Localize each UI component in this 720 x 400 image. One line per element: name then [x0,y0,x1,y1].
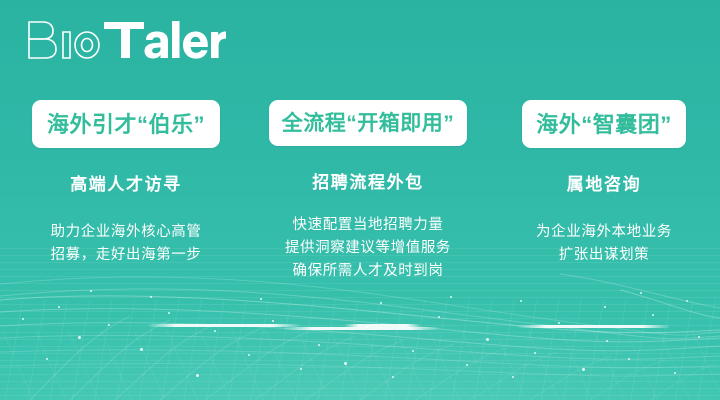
feature-body-line: 为企业海外本地业务 [497,221,711,244]
promo-banner: 海外引才“伯乐” 高端人才访寻 助力企业海外核心高管 招募，走好出海第一步 全流… [0,0,720,400]
biotalent-logo-mark [26,18,226,62]
background-streak [345,324,420,327]
feature-pill-3[interactable]: 海外“智囊团” [522,100,686,148]
feature-column-2: 全流程“开箱即用” 招聘流程外包 快速配置当地招聘力量 提供洞察建议等增值服务 … [247,100,489,283]
feature-pill-1[interactable]: 海外引才“伯乐” [32,100,220,148]
feature-body-1: 助力企业海外核心高管 招募，走好出海第一步 [12,221,240,267]
feature-body-line: 提供洞察建议等增值服务 [247,237,489,260]
feature-body-2: 快速配置当地招聘力量 提供洞察建议等增值服务 确保所需人才及时到岗 [247,214,489,283]
biotalent-logo[interactable] [26,18,226,60]
feature-column-1: 海外引才“伯乐” 高端人才访寻 助力企业海外核心高管 招募，走好出海第一步 [12,100,240,267]
feature-body-line: 助力企业海外核心高管 [12,221,240,244]
feature-body-3: 为企业海外本地业务 扩张出谋划策 [497,221,711,267]
feature-pill-2[interactable]: 全流程“开箱即用” [269,100,468,146]
background-streak [518,325,670,328]
feature-subtitle-2: 招聘流程外包 [247,168,489,193]
feature-subtitle-1: 高端人才访寻 [12,170,240,195]
feature-body-line: 扩张出谋划策 [497,244,711,267]
feature-columns: 海外引才“伯乐” 高端人才访寻 助力企业海外核心高管 招募，走好出海第一步 全流… [0,100,720,283]
background-streak [284,327,439,330]
feature-body-line: 快速配置当地招聘力量 [247,214,489,237]
feature-body-line: 确保所需人才及时到岗 [247,260,489,283]
feature-subtitle-3: 属地咨询 [497,170,711,195]
background-streak [148,324,300,327]
feature-body-line: 招募，走好出海第一步 [12,244,240,267]
feature-column-3: 海外“智囊团” 属地咨询 为企业海外本地业务 扩张出谋划策 [497,100,711,267]
